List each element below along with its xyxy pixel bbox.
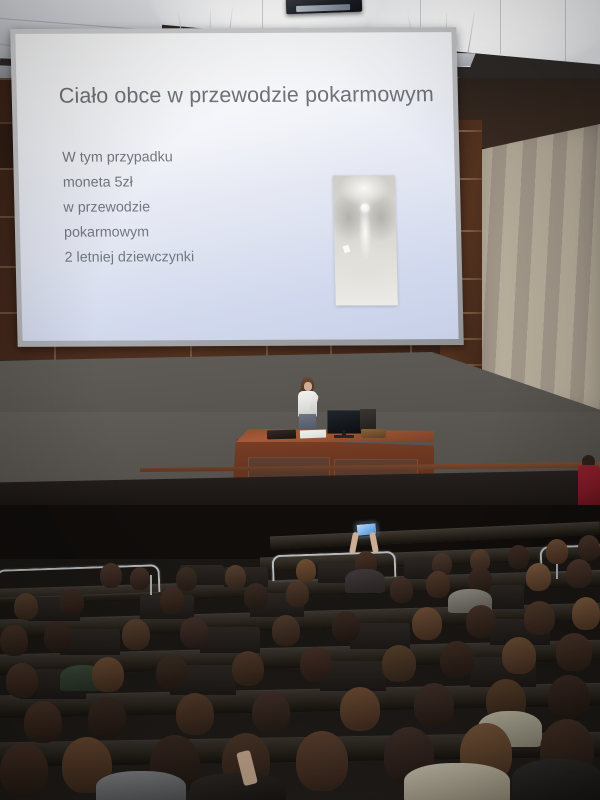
chest-xray-image — [333, 175, 398, 305]
slide-body-line-2: moneta 5zł — [63, 170, 314, 196]
raised-arm-left — [349, 532, 359, 555]
audience-head — [426, 571, 450, 598]
monitor-base — [334, 435, 354, 438]
audience-head — [440, 641, 474, 678]
foreground-shoulders-dark — [190, 773, 286, 800]
xray-coin-foreign-body — [360, 203, 369, 212]
keyboard-tray — [267, 430, 296, 440]
audience-head — [556, 633, 592, 671]
audience-head — [225, 565, 246, 589]
audience-head — [176, 567, 197, 591]
audience-head — [502, 637, 536, 674]
presenter-face — [304, 382, 312, 391]
audience-head — [286, 581, 309, 607]
audience-head — [508, 545, 529, 569]
audience-head — [0, 625, 28, 656]
audience-head — [572, 597, 600, 630]
audience-head — [414, 683, 454, 727]
audience-head — [412, 607, 442, 640]
audience-head — [578, 535, 600, 561]
standing-person-red-shirt — [578, 465, 600, 507]
audience-head — [88, 697, 126, 739]
audience-head — [122, 619, 150, 650]
audience-head-foreground — [296, 731, 348, 791]
slide-title: Ciało obce w przewodzie pokarmowym — [59, 82, 435, 109]
audience-head — [272, 615, 300, 646]
audience-head — [92, 657, 124, 692]
audience-head — [244, 583, 268, 610]
audience-head — [24, 701, 62, 743]
audience-head-foreground — [0, 743, 48, 797]
audience-head — [44, 621, 72, 652]
audience-head — [130, 567, 150, 590]
lecture-hall-photo: Ciało obce w przewodzie pokarmowym W tym… — [0, 0, 600, 800]
audience-head — [252, 691, 290, 733]
xray-thorax — [333, 175, 398, 305]
desk-equipment-box — [360, 409, 376, 431]
slide-body-line-1: W tym przypadku — [62, 145, 313, 171]
audience-head — [100, 563, 122, 588]
striped-wall-panel — [478, 124, 600, 414]
projection-screen-frame: Ciało obce w przewodzie pokarmowym W tym… — [10, 27, 464, 347]
audience-head — [6, 663, 38, 698]
slide-body-line-3: w przewodzie — [63, 195, 314, 221]
raised-arm-right — [369, 532, 379, 554]
audience-head — [300, 647, 332, 682]
desk-items-right — [361, 429, 386, 438]
audience-seating — [0, 505, 600, 800]
audience-head — [296, 559, 316, 582]
foreground-shoulders-cream — [404, 763, 510, 800]
audience-head — [176, 693, 214, 735]
audience-head — [524, 601, 555, 635]
slide-body-line-5: 2 letniej dziewczynki — [64, 245, 315, 271]
foreground-shoulders-grey — [96, 771, 186, 800]
seat-back — [200, 627, 260, 653]
audience-head — [332, 611, 360, 642]
audience-member-with-phone — [342, 523, 382, 593]
presenter — [294, 377, 322, 433]
audience-head — [566, 559, 592, 588]
audience-head — [180, 617, 208, 648]
audience-head — [60, 589, 84, 616]
desk-papers — [300, 430, 326, 439]
audience-head — [546, 539, 568, 564]
slide-body-line-4: pokarmowym — [64, 220, 315, 246]
projection-screen: Ciało obce w przewodzie pokarmowym W tym… — [15, 32, 458, 341]
handrail-post-left — [150, 575, 152, 597]
audience-head — [466, 605, 496, 638]
audience-head — [232, 651, 264, 686]
slide-body-text: W tym przypadku moneta 5zł w przewodzie … — [62, 145, 315, 271]
audience-head — [340, 687, 380, 731]
audience-head — [548, 675, 590, 721]
audience-head — [14, 593, 38, 620]
audience-head — [526, 563, 551, 591]
audience-head — [156, 655, 188, 690]
audience-head — [382, 645, 416, 682]
foreground-shoulders-right — [512, 759, 600, 800]
audience-head — [390, 577, 413, 603]
audience-head — [160, 587, 184, 614]
phone-user-shoulders — [345, 569, 385, 593]
